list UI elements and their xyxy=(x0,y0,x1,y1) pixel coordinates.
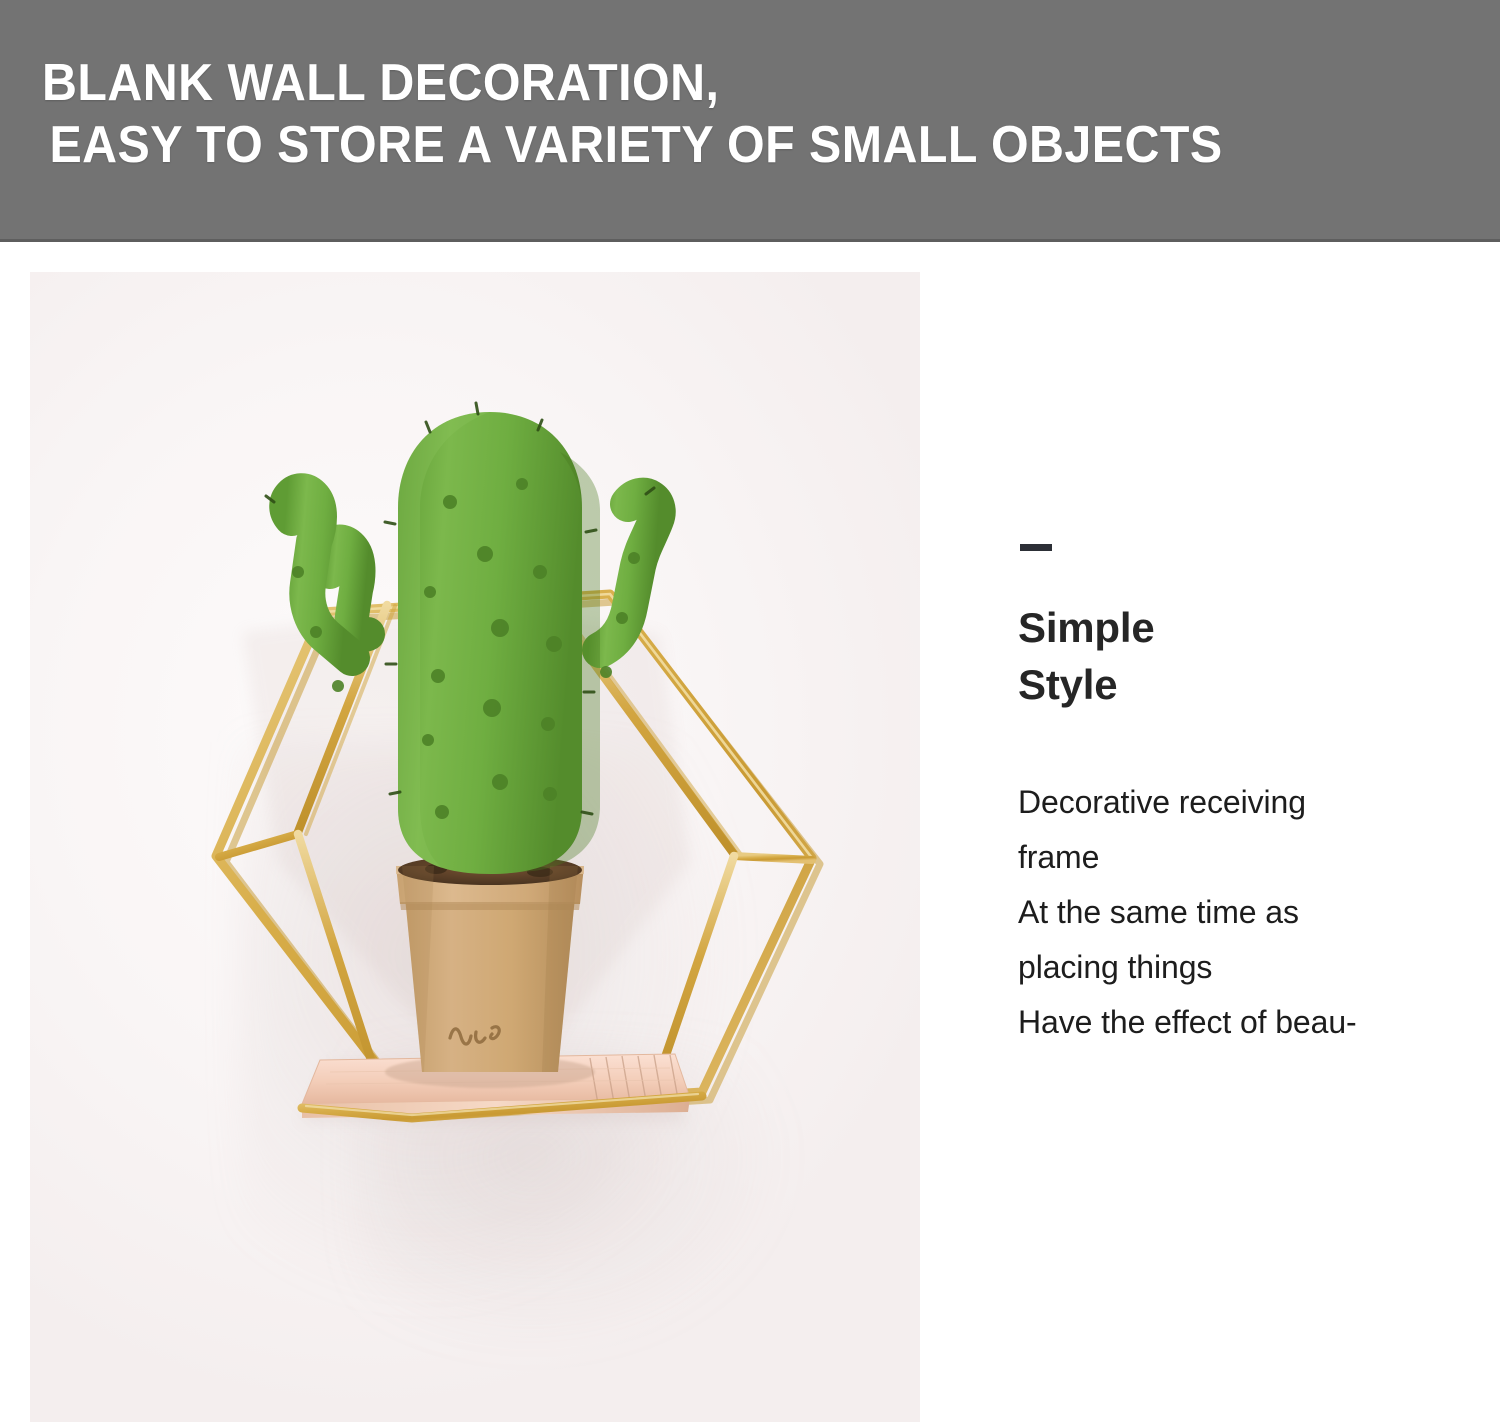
panel-heading-line-1: Simple xyxy=(1018,599,1478,656)
accent-dash-icon xyxy=(1020,544,1052,551)
panel-heading-line-2: Style xyxy=(1018,656,1478,713)
panel-body-line-2: frame xyxy=(1018,830,1478,885)
hexagon-shelf-illustration xyxy=(30,272,920,1422)
description-panel: Simple Style Decorative receiving frame … xyxy=(1018,500,1478,1050)
panel-body-line-5: Have the effect of beau- xyxy=(1018,995,1478,1050)
panel-body-line-1: Decorative receiving xyxy=(1018,775,1478,830)
page-title: BLANK WALL DECORATION, EASY TO STORE A V… xyxy=(42,52,1344,176)
header-banner: BLANK WALL DECORATION, EASY TO STORE A V… xyxy=(0,0,1500,242)
panel-body-text: Decorative receiving frame At the same t… xyxy=(1018,775,1478,1050)
page-title-line-2: EASY TO STORE A VARIETY OF SMALL OBJECTS xyxy=(42,114,1344,176)
terracotta-pot xyxy=(385,855,595,1088)
panel-body-line-3: At the same time as xyxy=(1018,885,1478,940)
panel-heading: Simple Style xyxy=(1018,599,1478,713)
panel-body-line-4: placing things xyxy=(1018,940,1478,995)
product-photo xyxy=(30,272,920,1422)
page-title-line-1: BLANK WALL DECORATION, xyxy=(42,52,1344,114)
